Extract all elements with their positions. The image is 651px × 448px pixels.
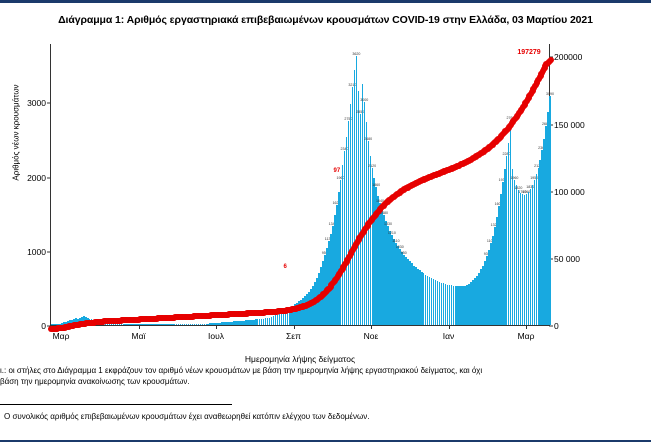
bar-value-label: 2120 bbox=[368, 164, 376, 168]
plot-inner: 0100020003000050 000100 000150 000200000… bbox=[51, 44, 549, 325]
cumulative-point bbox=[548, 57, 554, 63]
x-tickmark bbox=[139, 325, 140, 329]
y-tickmark-left bbox=[47, 251, 51, 252]
x-axis-label: Ημερομηνία λήψης δείγματος bbox=[50, 354, 550, 364]
x-tickmark bbox=[294, 325, 295, 329]
annotation-mid: 97 bbox=[334, 168, 341, 174]
bar-value-label: 2480 bbox=[364, 137, 372, 141]
footnote-divider bbox=[0, 404, 232, 405]
page-top-rule bbox=[0, 0, 651, 3]
bar-value-label: 1820 bbox=[514, 186, 522, 190]
annotation-total: 197279 bbox=[517, 49, 540, 56]
y-tick-right: 150 000 bbox=[549, 120, 585, 130]
bar-value-label: 1330 bbox=[384, 222, 392, 226]
bar-value-label: 1110 bbox=[392, 239, 399, 243]
bar-value-label: 1210 bbox=[388, 231, 396, 235]
bar bbox=[549, 96, 551, 325]
x-tickmark bbox=[526, 325, 527, 329]
bar-value-label: 3000 bbox=[360, 98, 368, 102]
footnote-1: ι.: οι στήλες στο Διάγραμμα 1 εκφράζουν … bbox=[0, 366, 640, 388]
x-tickmark bbox=[216, 325, 217, 329]
bar-value-label: 1960 bbox=[510, 176, 518, 180]
y-axis-label-left: Αριθμός νέων κρουσμάτων bbox=[12, 73, 21, 193]
page-bottom-rule bbox=[0, 440, 651, 442]
y-tick-right: 100 000 bbox=[549, 187, 585, 197]
bar-value-label: 3090 bbox=[546, 92, 554, 96]
bar-value-label: 950 bbox=[401, 251, 407, 255]
bar-value-label: 3620 bbox=[352, 52, 360, 56]
x-tickmark bbox=[371, 325, 372, 329]
bar-value-label: 1860 bbox=[372, 183, 380, 187]
plot-area: 0100020003000050 000100 000150 000200000… bbox=[50, 44, 550, 326]
annotation-low: 6 bbox=[284, 264, 287, 270]
chart-title: Διάγραμμα 1: Αριθμός εργαστηριακά επιβεβ… bbox=[0, 14, 651, 26]
footnote-1-line-2: βάση την ημερομηνία ανακοίνωσης των κρου… bbox=[0, 377, 640, 388]
bar-value-label: 1030 bbox=[396, 245, 404, 249]
y-tick-right: 200000 bbox=[549, 52, 582, 62]
y-tickmark-right bbox=[549, 326, 553, 327]
chart-figure: Αριθμός νέων κρουσμάτων Συνολικός αριθμό… bbox=[0, 32, 651, 344]
y-tickmark-left bbox=[47, 177, 51, 178]
x-tickmark bbox=[449, 325, 450, 329]
y-tick-right: 50 000 bbox=[549, 254, 580, 264]
footnote-1-line-1: ι.: οι στήλες στο Διάγραμμα 1 εκφράζουν … bbox=[0, 366, 640, 377]
y-tickmark-left bbox=[47, 103, 51, 104]
footnote-2: Ο συνολικός αριθμός επιβεβαιωμένων κρουσ… bbox=[4, 412, 651, 423]
